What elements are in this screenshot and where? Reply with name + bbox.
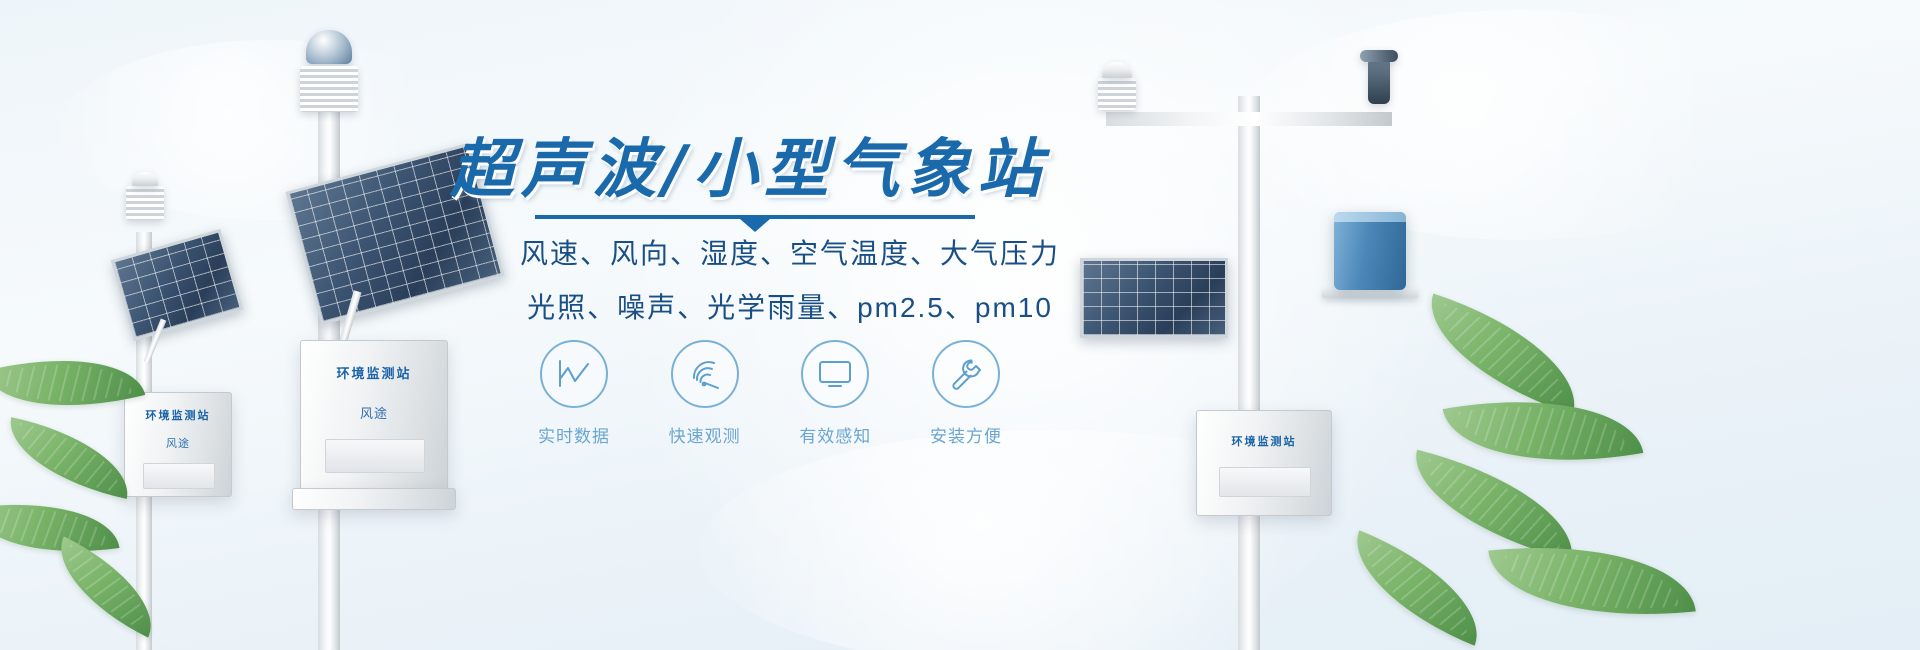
caret-down-icon <box>740 219 770 232</box>
feature-label: 安装方便 <box>912 422 1020 447</box>
brand-label-center: 风途 <box>301 403 447 422</box>
wrench-icon <box>949 357 983 391</box>
feature-icon-circle <box>540 340 608 408</box>
station-label-center: 环境监测站 <box>301 363 447 382</box>
anemometer-cup-right <box>1360 50 1398 62</box>
station-label-left: 环境监测站 <box>125 407 231 423</box>
station-enclosure-left: 环境监测站 风途 <box>124 392 232 497</box>
feature-label: 有效感知 <box>781 422 889 447</box>
radar-signal-icon <box>688 358 722 390</box>
banner-content: 超声波/小型气象站 风速、风向、湿度、空气温度、大气压力 光照、噪声、光学雨量、… <box>440 0 1140 650</box>
radiation-shield-left <box>126 186 164 220</box>
enclosure-vent-left <box>143 463 215 489</box>
feature-item-effective-sensing[interactable]: 有效感知 <box>781 340 889 447</box>
product-banner: 环境监测站 风途 环境监测站 风途 环境监测站 <box>0 0 1920 650</box>
subtitle-line-1: 风速、风向、湿度、空气温度、大气压力 <box>440 232 1140 272</box>
feature-label: 实时数据 <box>520 422 628 447</box>
enclosure-base-center <box>292 488 456 510</box>
feature-icon-circle <box>801 340 869 408</box>
feature-item-easy-install[interactable]: 安装方便 <box>912 340 1020 447</box>
feature-list: 实时数据 快速观测 <box>520 340 1020 447</box>
enclosure-vent-center <box>325 439 425 473</box>
brand-label-left: 风途 <box>125 435 231 451</box>
rain-gauge-right <box>1334 212 1406 290</box>
cross-arm-right <box>1106 112 1392 126</box>
radiation-shield-center <box>300 66 358 112</box>
feature-label: 快速观测 <box>651 422 759 447</box>
station-label-right: 环境监测站 <box>1197 433 1331 449</box>
monitor-screen-icon <box>817 359 853 389</box>
station-enclosure-center: 环境监测站 风途 <box>300 340 448 490</box>
enclosure-vent-right <box>1219 467 1311 497</box>
line-chart-icon <box>557 359 591 389</box>
feature-item-fast-observation[interactable]: 快速观测 <box>651 340 759 447</box>
feature-icon-circle <box>932 340 1000 408</box>
station-enclosure-right: 环境监测站 <box>1196 410 1332 516</box>
ultrasonic-sensor-center <box>306 30 352 64</box>
subtitle-line-2: 光照、噪声、光学雨量、pm2.5、pm10 <box>440 286 1140 326</box>
mast-pole-right <box>1238 96 1260 650</box>
title-divider <box>535 215 975 219</box>
feature-icon-circle <box>671 340 739 408</box>
wind-vane-sensor-right <box>1368 58 1390 104</box>
feature-item-realtime-data[interactable]: 实时数据 <box>520 340 628 447</box>
banner-title: 超声波/小型气象站 <box>450 118 1048 210</box>
